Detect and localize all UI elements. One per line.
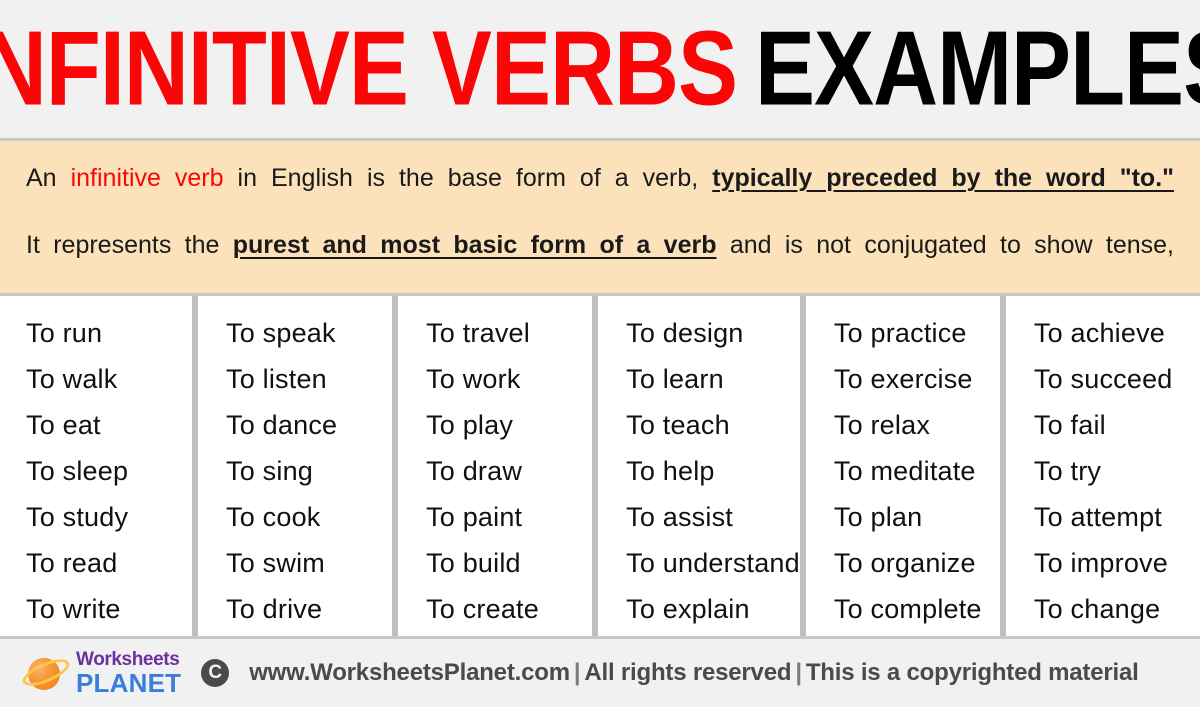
verb-item: To travel	[426, 310, 592, 356]
verb-item: To explain	[626, 586, 800, 632]
verb-item: To paint	[426, 494, 592, 540]
verb-item: To study	[26, 494, 192, 540]
verb-item: To create	[426, 586, 592, 632]
description-line2-post: and is not conjugated to show tense,	[716, 231, 1174, 259]
page-header: INFINITIVE VERBSEXAMPLES	[0, 0, 1200, 138]
verb-item: To eat	[26, 402, 192, 448]
verb-item: To improve	[1034, 540, 1200, 586]
verb-item: To try	[1034, 448, 1200, 494]
description-line1-highlight: infinitive verb	[71, 164, 224, 192]
verb-item: To design	[626, 310, 800, 356]
verb-column-2: To speak To listen To dance To sing To c…	[198, 296, 392, 636]
page-footer: Worksheets PLANET C www.WorksheetsPlanet…	[0, 636, 1200, 707]
verb-item: To write	[26, 586, 192, 632]
verb-item: To play	[426, 402, 592, 448]
verb-item: To draw	[426, 448, 592, 494]
verb-item: To succeed	[1034, 356, 1200, 402]
verb-item: To relax	[834, 402, 1000, 448]
verb-item: To build	[426, 540, 592, 586]
verb-item: To organize	[834, 540, 1000, 586]
verb-item: To walk	[26, 356, 192, 402]
verb-item: To run	[26, 310, 192, 356]
description-line-1: An infinitive verb in English is the bas…	[26, 163, 1174, 194]
description-line-2: It represents the purest and most basic …	[26, 230, 1174, 261]
verb-column-5: To practice To exercise To relax To medi…	[806, 296, 1000, 636]
verb-item: To fail	[1034, 402, 1200, 448]
verb-item: To sleep	[26, 448, 192, 494]
description-line1-pre: An	[26, 164, 71, 192]
verb-column-1: To run To walk To eat To sleep To study …	[0, 296, 192, 636]
planet-icon	[22, 652, 70, 694]
verb-item: To practice	[834, 310, 1000, 356]
footer-separator-2: |	[791, 659, 806, 686]
verb-item: To meditate	[834, 448, 1000, 494]
verb-item: To speak	[226, 310, 392, 356]
worksheets-planet-logo[interactable]: Worksheets PLANET	[22, 650, 181, 696]
footer-notice: This is a copyrighted material	[806, 659, 1139, 686]
footer-separator-1: |	[570, 659, 585, 686]
verb-item: To sing	[226, 448, 392, 494]
footer-copyright-text: www.WorksheetsPlanet.com|All rights rese…	[249, 659, 1138, 687]
description-line2-emphasis: purest and most basic form of a verb	[233, 231, 717, 259]
verb-item: To learn	[626, 356, 800, 402]
page-title: INFINITIVE VERBSEXAMPLES	[0, 16, 1200, 122]
verb-item: To plan	[834, 494, 1000, 540]
verb-item: To assist	[626, 494, 800, 540]
verb-item: To work	[426, 356, 592, 402]
description-line1-mid: in English is the base form of a verb,	[224, 164, 713, 192]
description-line2-pre: It represents the	[26, 231, 233, 259]
verb-item: To cook	[226, 494, 392, 540]
verb-column-4: To design To learn To teach To help To a…	[598, 296, 800, 636]
verb-item: To understand	[626, 540, 800, 586]
verb-column-3: To travel To work To play To draw To pai…	[398, 296, 592, 636]
worksheet-page: INFINITIVE VERBSEXAMPLES An infinitive v…	[0, 0, 1200, 707]
verb-columns: To run To walk To eat To sleep To study …	[0, 296, 1200, 636]
logo-text-worksheets: Worksheets	[76, 650, 181, 669]
footer-site-url: www.WorksheetsPlanet.com	[249, 659, 570, 686]
verb-item: To listen	[226, 356, 392, 402]
footer-rights: All rights reserved	[584, 659, 791, 686]
verb-item: To read	[26, 540, 192, 586]
page-title-black: EXAMPLES	[755, 16, 1200, 122]
logo-text-planet: PLANET	[76, 670, 181, 696]
copyright-icon: C	[201, 659, 229, 687]
description-line1-emphasis: typically preceded by the word "to."	[712, 164, 1174, 192]
verb-item: To exercise	[834, 356, 1000, 402]
logo-wordmark: Worksheets PLANET	[76, 650, 181, 696]
verb-item: To drive	[226, 586, 392, 632]
verb-column-6: To achieve To succeed To fail To try To …	[1006, 296, 1200, 636]
verb-item: To change	[1034, 586, 1200, 632]
verb-item: To swim	[226, 540, 392, 586]
verb-item: To achieve	[1034, 310, 1200, 356]
description-band: An infinitive verb in English is the bas…	[0, 138, 1200, 296]
verb-item: To complete	[834, 586, 1000, 632]
page-title-red: INFINITIVE VERBS	[0, 16, 737, 122]
verb-item: To dance	[226, 402, 392, 448]
verb-item: To teach	[626, 402, 800, 448]
verb-item: To attempt	[1034, 494, 1200, 540]
verb-item: To help	[626, 448, 800, 494]
